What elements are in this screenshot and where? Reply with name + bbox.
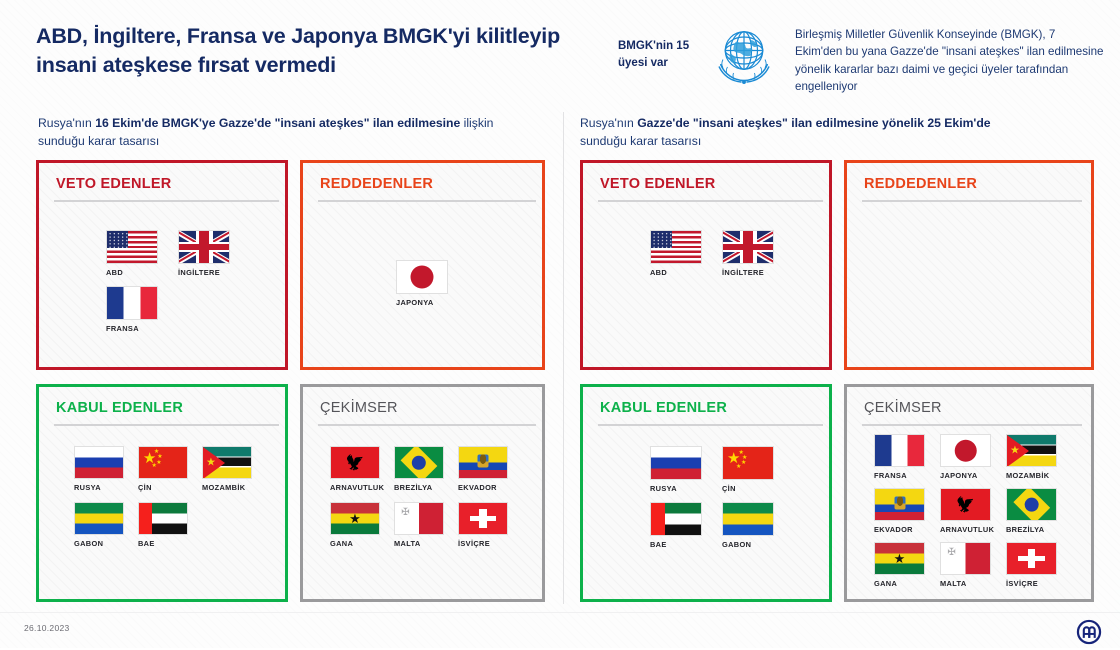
flag-fra-icon [106,286,158,320]
subtitle-right-suffix: sunduğu karar tasarısı [580,134,701,148]
flag-moz-icon [202,446,252,479]
panel-reject-left: REDDEDENLERJAPONYA [300,160,545,370]
flag-label: RUSYA [74,483,101,492]
flag-item: BAE [650,502,702,549]
panel-veto-left: VETO EDENLERABDİNGİLTEREFRANSA [36,160,288,370]
flag-item: GANA [874,542,925,588]
flag-jpn-icon [396,260,448,294]
flag-label: GABON [722,540,751,549]
flag-chn-icon: ★★★★★ [138,446,188,479]
panel-veto-right: VETO EDENLERABDİNGİLTERE [580,160,832,370]
panel-title-rule [54,200,279,202]
flag-label: MOZAMBİK [1006,471,1049,480]
flag-label: MALTA [940,579,967,588]
flag-item: İSVİÇRE [458,502,508,548]
flag-che-icon [458,502,508,535]
flag-are-icon [138,502,188,535]
flag-item: İNGİLTERE [178,230,230,277]
flag-item: RUSYA [74,446,124,492]
subtitle-right-prefix: Rusya'nın [580,116,637,130]
panel-title: ÇEKİMSER [864,400,942,416]
flag-item: ★★★★★ÇİN [722,446,774,493]
flag-gbr-icon [178,230,230,264]
panel-abstain-right: ÇEKİMSERFRANSAJAPONYAMOZAMBİKEKVADORARNA… [844,384,1094,602]
flag-item: BREZİLYA [394,446,444,492]
bmgk-members-note: BMGK'nin 15 üyesi var [618,38,700,71]
publish-date: 26.10.2023 [24,623,70,633]
flag-mlt-icon [940,542,991,575]
flag-ecu-icon [458,446,508,479]
header-description: Birleşmiş Milletler Güvenlik Konseyinde … [795,26,1105,96]
flag-usa-icon [650,230,702,264]
flag-label: BAE [138,539,155,548]
panel-title: VETO EDENLER [600,176,716,192]
flag-label: GABON [74,539,103,548]
flag-label: EKVADOR [458,483,497,492]
flag-item: ARNAVUTLUK [940,488,994,534]
subtitle-left: Rusya'nın 16 Ekim'de BMGK'ye Gazze'de "i… [38,114,498,151]
flag-moz-icon [1006,434,1057,467]
panel-title: REDDEDENLER [320,176,433,192]
flag-item: MOZAMBİK [1006,434,1057,480]
flag-item: RUSYA [650,446,702,493]
panel-title-rule [598,424,823,426]
flag-rus-icon [650,446,702,480]
flag-item: MALTA [394,502,444,548]
panel-title-rule [318,200,536,202]
header: ABD, İngiltere, Fransa ve Japonya BMGK'y… [0,0,1120,100]
subtitle-right-bold: Gazze'de "insani ateşkes" ilan edilmesin… [637,116,990,130]
panel-title: ÇEKİMSER [320,400,398,416]
flag-label: MALTA [394,539,421,548]
flag-mlt-icon [394,502,444,535]
flag-label: BREZİLYA [1006,525,1044,534]
flag-gha-icon [330,502,380,535]
flag-are-icon [650,502,702,536]
flag-label: ABD [106,268,123,277]
infographic-page: ABD, İngiltere, Fransa ve Japonya BMGK'y… [0,0,1120,648]
flag-label: İNGİLTERE [178,268,220,277]
flag-label: JAPONYA [396,298,434,307]
panel-title-rule [598,200,823,202]
flag-item: GABON [722,502,774,549]
flag-item: ABD [106,230,158,277]
flag-item: EKVADOR [458,446,508,492]
flag-item: İSVİÇRE [1006,542,1057,588]
flag-chn-icon: ★★★★★ [722,446,774,480]
flag-item: MOZAMBİK [202,446,252,492]
flag-item: BREZİLYA [1006,488,1057,534]
panel-accept-left: KABUL EDENLERRUSYA★★★★★ÇİNMOZAMBİKGABONB… [36,384,288,602]
flag-item: FRANSA [106,286,158,333]
panel-title-rule [862,200,1082,202]
aa-logo-icon [1076,619,1102,645]
flag-label: FRANSA [874,471,907,480]
flag-label: EKVADOR [874,525,913,534]
flag-label: İSVİÇRE [458,539,490,548]
page-title: ABD, İngiltere, Fransa ve Japonya BMGK'y… [36,22,606,80]
flag-label: ARNAVUTLUK [330,483,384,492]
column-divider [563,112,564,604]
panel-title-rule [54,424,279,426]
flag-item: JAPONYA [396,260,448,307]
flag-item: GANA [330,502,380,548]
flag-label: ÇİN [138,483,152,492]
flag-item: GABON [74,502,124,548]
flag-label: İSVİÇRE [1006,579,1038,588]
panel-title-rule [318,424,536,426]
subtitle-left-prefix: Rusya'nın [38,116,95,130]
footer-divider [0,612,1120,613]
panel-reject-right: REDDEDENLER [844,160,1094,370]
flag-gab-icon [722,502,774,536]
flag-item: EKVADOR [874,488,925,534]
flag-ecu-icon [874,488,925,521]
flag-label: BREZİLYA [394,483,432,492]
panel-title: KABUL EDENLER [600,400,727,416]
flag-jpn-icon [940,434,991,467]
flag-item: MALTA [940,542,991,588]
subtitle-right: Rusya'nın Gazze'de "insani ateşkes" ilan… [580,114,1040,151]
panel-accept-right: KABUL EDENLERRUSYA★★★★★ÇİNBAEGABON [580,384,832,602]
flag-bra-icon [394,446,444,479]
flag-label: ARNAVUTLUK [940,525,994,534]
flag-item: ARNAVUTLUK [330,446,384,492]
flag-alb-icon [940,488,991,521]
flag-usa-icon [106,230,158,264]
flag-bra-icon [1006,488,1057,521]
flag-fra-icon [874,434,925,467]
panel-abstain-left: ÇEKİMSERARNAVUTLUKBREZİLYAEKVADORGANAMAL… [300,384,545,602]
flag-alb-icon [330,446,380,479]
flag-label: ABD [650,268,667,277]
flag-rus-icon [74,446,124,479]
flag-item: JAPONYA [940,434,991,480]
flag-item: İNGİLTERE [722,230,774,277]
flag-label: JAPONYA [940,471,978,480]
flag-gbr-icon [722,230,774,264]
flag-che-icon [1006,542,1057,575]
flag-gab-icon [74,502,124,535]
panel-title: KABUL EDENLER [56,400,183,416]
flag-label: BAE [650,540,667,549]
panel-title: REDDEDENLER [864,176,977,192]
flag-item: ★★★★★ÇİN [138,446,188,492]
flag-item: FRANSA [874,434,925,480]
flag-label: RUSYA [650,484,677,493]
flag-label: MOZAMBİK [202,483,245,492]
flag-label: İNGİLTERE [722,268,764,277]
flag-item: ABD [650,230,702,277]
subtitle-left-bold: 16 Ekim'de BMGK'ye Gazze'de "insani ateş… [95,116,460,130]
flag-label: FRANSA [106,324,139,333]
flag-item: BAE [138,502,188,548]
panel-title: VETO EDENLER [56,176,172,192]
flag-label: ÇİN [722,484,736,493]
flag-label: GANA [874,579,897,588]
flag-label: GANA [330,539,353,548]
flag-gha-icon [874,542,925,575]
un-emblem-icon [706,22,782,88]
panel-title-rule [862,424,1082,426]
